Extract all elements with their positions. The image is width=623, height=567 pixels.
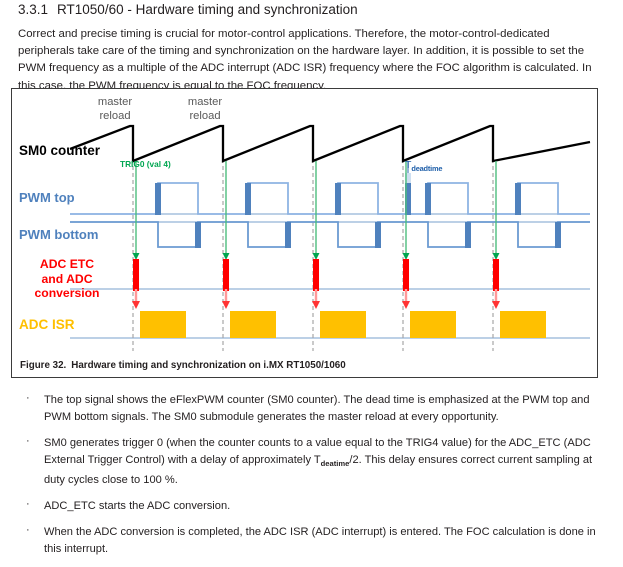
section-number: 3.3.1: [18, 2, 48, 17]
sm0-counter-waveform: [70, 126, 590, 161]
bullet-marker: ·: [26, 433, 30, 450]
intro-paragraph: Correct and precise timing is crucial fo…: [18, 26, 608, 95]
figure-caption: Figure 32.Hardware timing and synchroniz…: [20, 360, 346, 371]
bullet-marker: ·: [26, 390, 30, 407]
figure-caption-number: Figure 32.: [20, 360, 66, 371]
pwm-top-waveform: [70, 183, 590, 214]
bullet-text: The top signal shows the eFlexPWM counte…: [44, 394, 590, 423]
bullet-text: When the ADC conversion is completed, th…: [44, 526, 596, 555]
annotation-master-reload-1: master reload: [84, 95, 146, 123]
annotation-trig0: TRIG0 (val 4): [120, 159, 171, 169]
annotation-deadtime: Tdeadtime: [405, 159, 442, 173]
pwm-bottom-deadtime-edges: [195, 222, 561, 248]
label-adc-etc: ADC ETC and ADC conversion: [24, 257, 110, 301]
adc-etc-bars: [133, 259, 499, 291]
pwm-top-deadtime-edges: [155, 183, 521, 215]
adc-conversion-arrows: [136, 289, 496, 303]
adc-conversion-arrowheads: [132, 301, 500, 309]
timing-diagram: [12, 89, 598, 355]
bullet-list: ·The top signal shows the eFlexPWM count…: [18, 392, 610, 567]
label-pwm-top: PWM top: [19, 190, 75, 205]
bullet-item: ·When the ADC conversion is completed, t…: [18, 524, 610, 558]
section-heading: 3.3.1RT1050/60 - Hardware timing and syn…: [18, 2, 358, 17]
bullet-text: ADC_ETC starts the ADC conversion.: [44, 500, 230, 512]
label-pwm-bottom: PWM bottom: [19, 227, 98, 242]
figure-box: SM0 counter PWM top PWM bottom ADC ETC a…: [11, 88, 598, 378]
trig0-arrowheads: [133, 253, 500, 260]
annotation-master-reload-2: master reload: [174, 95, 236, 123]
bullet-item: ·SM0 generates trigger 0 (when the count…: [18, 435, 610, 489]
pwm-bottom-waveform: [70, 222, 590, 247]
section-title: RT1050/60 - Hardware timing and synchron…: [57, 2, 358, 17]
trig0-arrows: [136, 161, 496, 255]
label-adc-isr: ADC ISR: [19, 317, 75, 332]
bullet-marker: ·: [26, 496, 30, 513]
label-sm0-counter: SM0 counter: [19, 143, 100, 158]
bullet-subscript: deatime: [321, 459, 350, 468]
figure-caption-text: Hardware timing and synchronization on i…: [71, 360, 345, 371]
bullet-item: ·ADC_ETC starts the ADC conversion.: [18, 498, 610, 515]
bullet-marker: ·: [26, 522, 30, 539]
document-page: 3.3.1RT1050/60 - Hardware timing and syn…: [0, 0, 623, 530]
deadtime-subscript: deadtime: [411, 164, 442, 173]
bullet-item: ·The top signal shows the eFlexPWM count…: [18, 392, 610, 426]
adc-isr-blocks: [140, 311, 546, 338]
timing-diagram-svg: [12, 89, 598, 355]
